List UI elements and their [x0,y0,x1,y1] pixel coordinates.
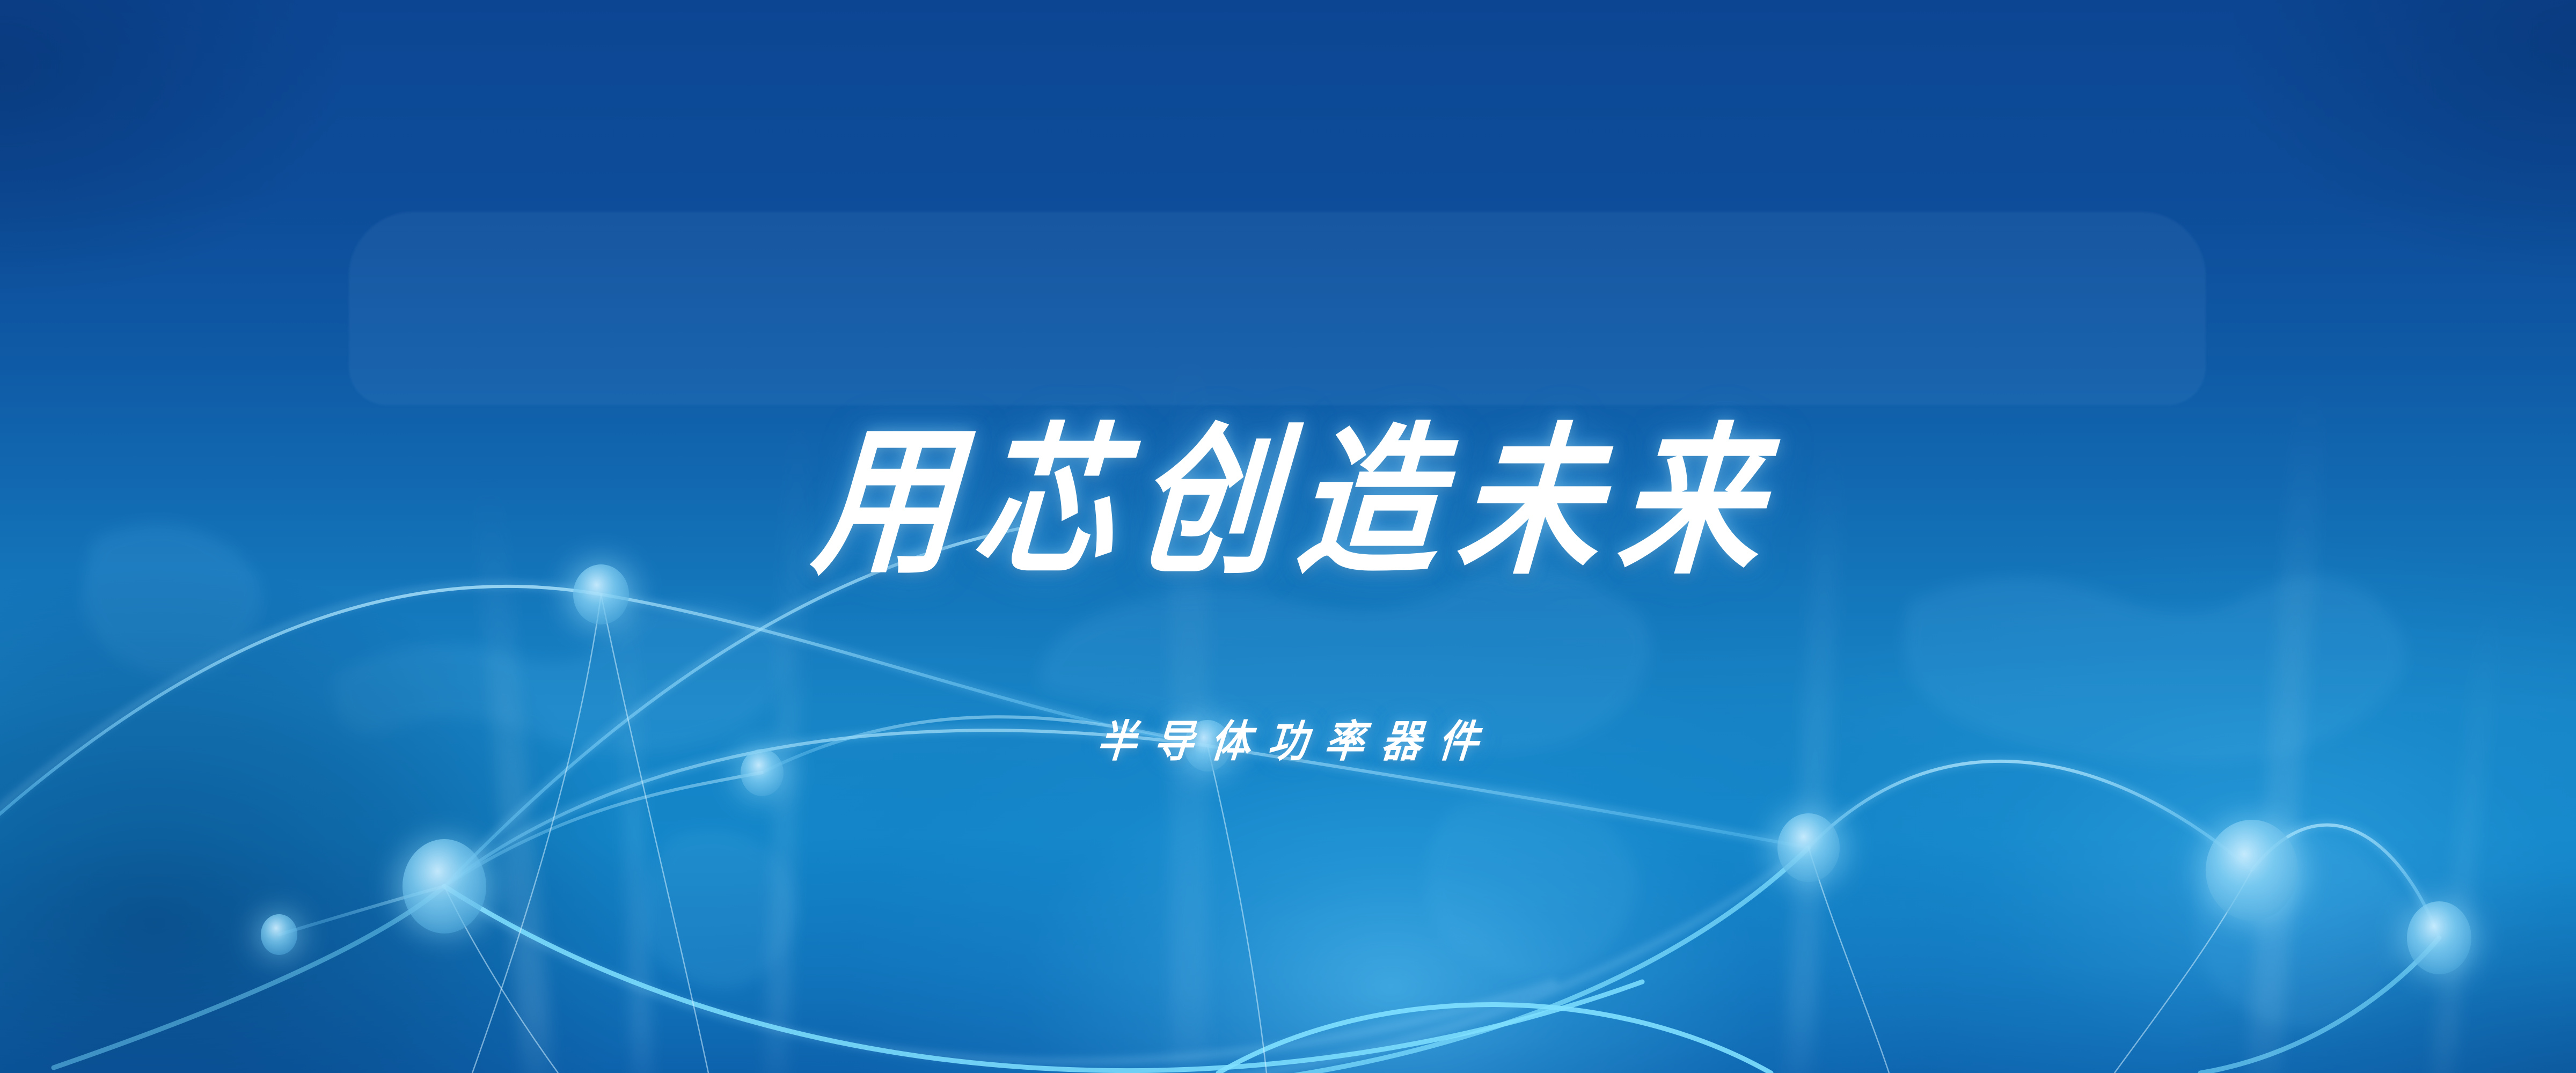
banner-stage: 用芯创造未来 半导体功率器件 [0,0,2576,1073]
subtitle-container: 半导体功率器件 [0,709,2576,767]
node-left-lower [402,839,486,934]
node-far-left [261,914,297,955]
node-right-mid [1777,813,1840,882]
page-title: 用芯创造未来 [789,411,1787,593]
node-right-a [2206,820,2298,921]
node-right-b [2407,901,2471,974]
page-subtitle: 半导体功率器件 [1078,707,1498,770]
headline-container: 用芯创造未来 [0,424,2576,580]
